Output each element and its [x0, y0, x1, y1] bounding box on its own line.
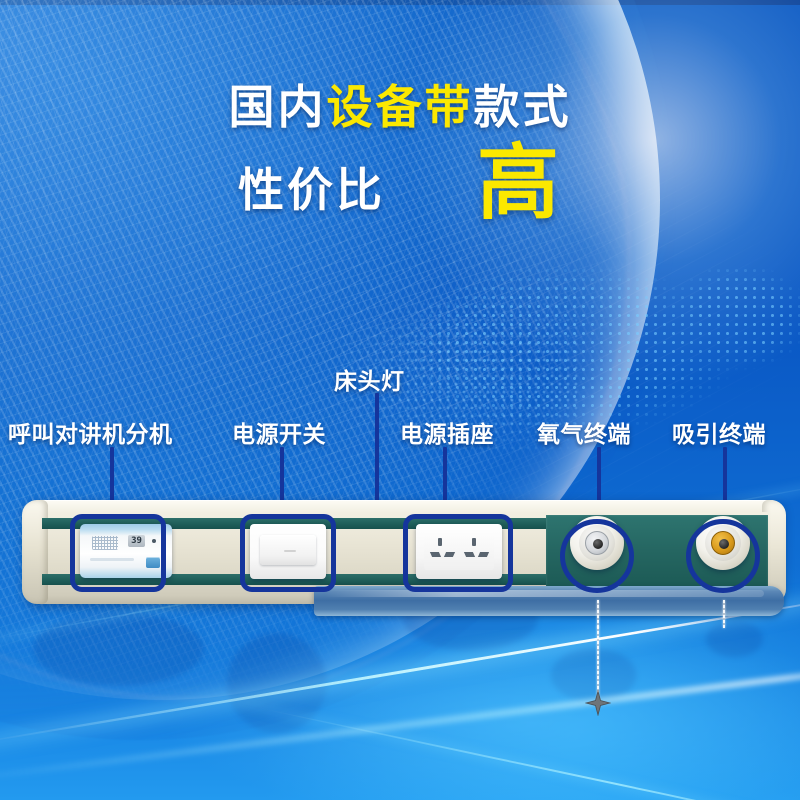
headline-line-2: 性价比 高	[0, 150, 800, 217]
highlight-box-power-switch	[240, 514, 336, 592]
headline-line1-part1: 国内	[229, 81, 327, 133]
suction-cord-upper	[723, 600, 725, 628]
callout-label-bed-head-lamp: 床头灯	[334, 362, 405, 396]
headline-line2-part2: 高	[477, 150, 562, 217]
pull-cord[interactable]	[597, 626, 599, 698]
highlight-circle-suction-terminal	[686, 519, 760, 593]
oxygen-cord-upper	[597, 600, 599, 628]
callout-label-oxygen-terminal: 氧气终端	[537, 415, 631, 449]
poster-canvas: 国内设备带款式 性价比 高 呼叫对讲机分机 电源开关 床头灯 电源插座 氧气终端…	[0, 0, 800, 800]
bottom-glow	[0, 630, 800, 800]
pull-cord-weight-icon	[585, 690, 611, 716]
callout-label-power-switch: 电源开关	[232, 415, 326, 449]
headline-line1-part3: 款式	[474, 81, 572, 133]
panel-end-cap-left	[22, 500, 48, 604]
highlight-circle-oxygen-terminal	[560, 519, 634, 593]
headline-block: 国内设备带款式 性价比 高	[0, 84, 800, 217]
headline-line-1: 国内设备带款式	[0, 84, 800, 130]
panel-rail-highlight	[324, 590, 764, 597]
headline-line1-part2: 设备带	[327, 81, 474, 133]
highlight-box-power-socket	[403, 514, 513, 592]
callout-label-power-socket: 电源插座	[400, 415, 494, 449]
highlight-box-nurse-call-intercom	[70, 514, 166, 592]
headline-line2-part1: 性价比	[238, 167, 385, 217]
callout-label-nurse-call-intercom: 呼叫对讲机分机	[8, 415, 173, 449]
callout-label-suction-terminal: 吸引终端	[672, 415, 766, 449]
